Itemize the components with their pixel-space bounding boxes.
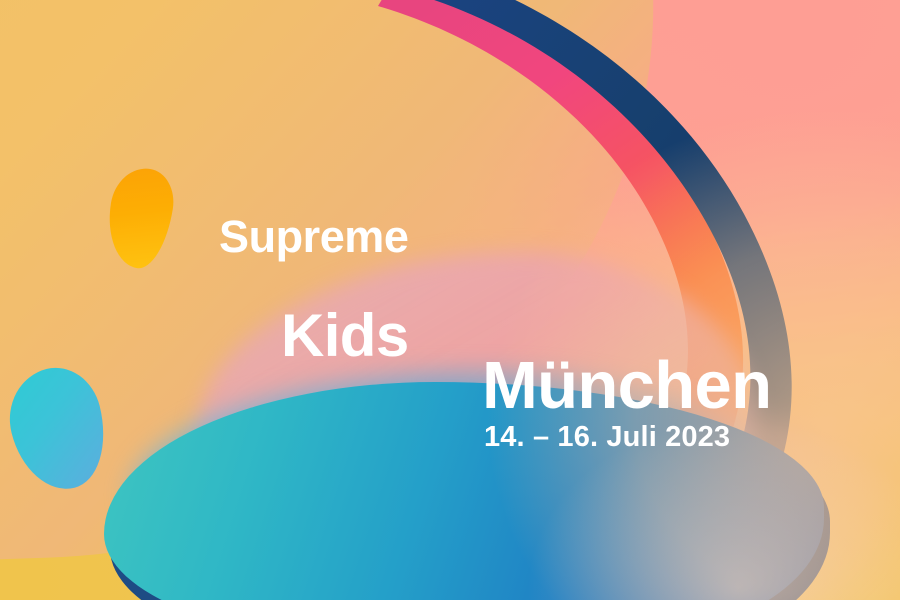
headline-line-kids: Kids	[281, 306, 409, 366]
poster-text-block: Supreme Kids München 14. – 16. Juli 2023	[0, 0, 900, 600]
event-poster: Supreme Kids München 14. – 16. Juli 2023	[0, 0, 900, 600]
event-dates: 14. – 16. Juli 2023	[484, 423, 730, 452]
headline-line-muenchen: München	[482, 352, 771, 419]
headline-line-supreme: Supreme	[219, 214, 408, 259]
